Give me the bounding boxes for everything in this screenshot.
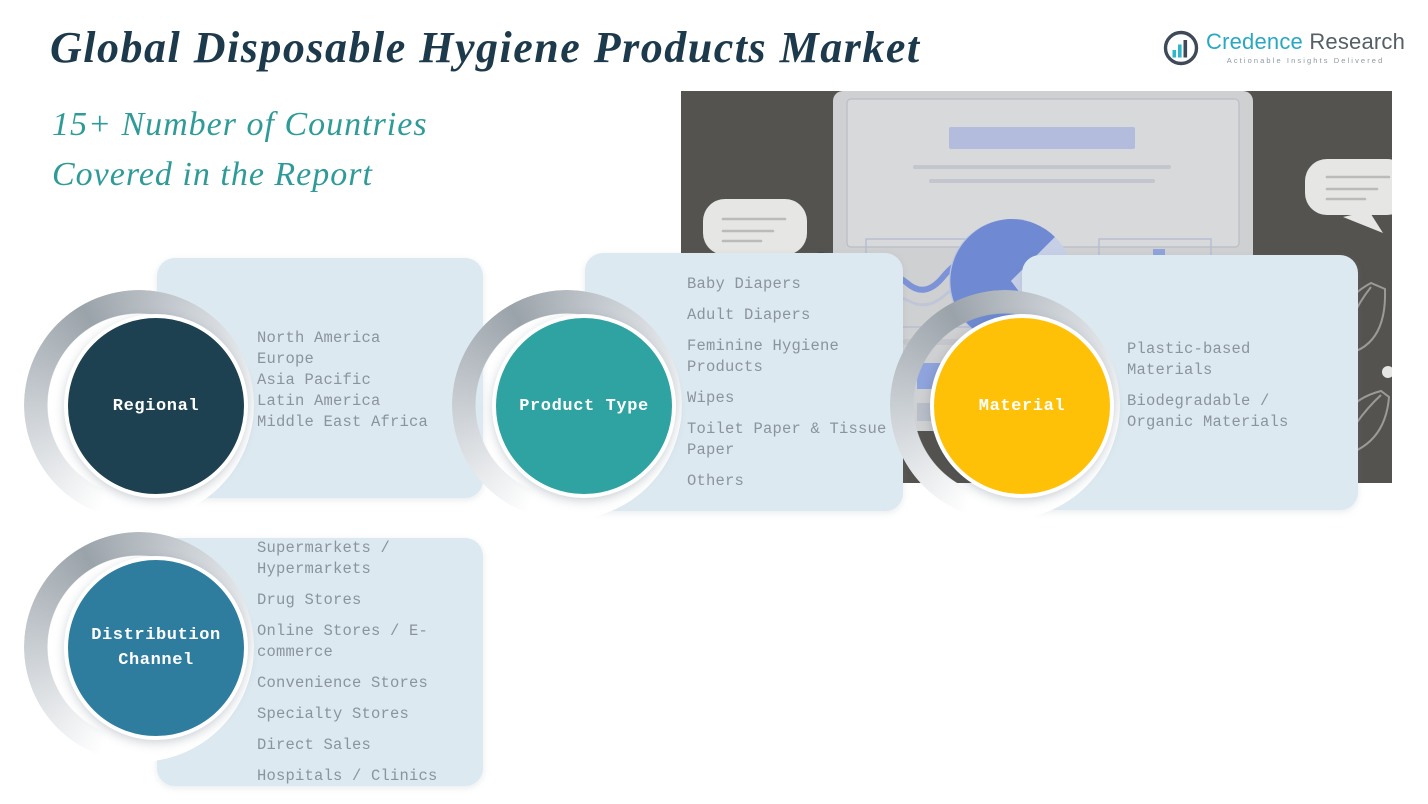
list-item: Online Stores / E-commerce <box>257 621 472 663</box>
list-item: Drug Stores <box>257 590 472 611</box>
page-title: Global Disposable Hygiene Products Marke… <box>50 22 921 73</box>
list-item: Specialty Stores <box>257 704 472 725</box>
list-item: North America <box>257 328 472 349</box>
list-item: Biodegradable / Organic Materials <box>1127 391 1345 433</box>
list-item: Latin America <box>257 391 472 412</box>
list-item: Adult Diapers <box>687 305 887 326</box>
circle-label-material: Material <box>979 394 1065 419</box>
circle-product-type[interactable]: Product Type <box>492 314 676 498</box>
circle-label-distribution-channel: Distribution Channel <box>91 623 221 673</box>
list-item: Supermarkets / Hypermarkets <box>257 538 472 580</box>
list-regional: North America Europe Asia Pacific Latin … <box>257 318 472 443</box>
logo-name-primary: Credence <box>1206 29 1303 54</box>
list-item: Hospitals / Clinics <box>257 766 472 787</box>
list-item: Toilet Paper & Tissue Paper <box>687 419 887 461</box>
list-item: Asia Pacific <box>257 370 472 391</box>
circle-distribution-channel[interactable]: Distribution Channel <box>64 556 248 740</box>
logo-name-secondary: Research <box>1309 29 1405 54</box>
list-item: Feminine Hygiene Products <box>687 336 887 378</box>
list-distribution-channel: Supermarkets / Hypermarkets Drug Stores … <box>257 538 472 786</box>
logo-tagline: Actionable Insights Delivered <box>1206 57 1405 65</box>
list-item: Wipes <box>687 388 887 409</box>
list-item: Middle East Africa <box>257 412 472 433</box>
circle-label-product-type: Product Type <box>519 394 649 419</box>
circle-label-regional: Regional <box>113 394 199 419</box>
list-item: Others <box>687 471 887 492</box>
list-material: Plastic-based Materials Biodegradable / … <box>1127 346 1345 426</box>
credence-logo-icon <box>1163 30 1199 66</box>
list-product-type: Baby Diapers Adult Diapers Feminine Hygi… <box>687 275 887 491</box>
circle-material[interactable]: Material <box>930 314 1114 498</box>
list-item: Europe <box>257 349 472 370</box>
list-item: Convenience Stores <box>257 673 472 694</box>
list-item: Baby Diapers <box>687 274 887 295</box>
brand-logo[interactable]: Credence Research Actionable Insights De… <box>1163 30 1405 66</box>
logo-wordmark: Credence Research Actionable Insights De… <box>1206 31 1405 65</box>
list-item: Plastic-based Materials <box>1127 339 1345 381</box>
page-subtitle: 15+ Number of Countries Covered in the R… <box>52 100 428 200</box>
circle-regional[interactable]: Regional <box>64 314 248 498</box>
infographic-canvas: Global Disposable Hygiene Products Marke… <box>0 0 1428 804</box>
list-item: Direct Sales <box>257 735 472 756</box>
